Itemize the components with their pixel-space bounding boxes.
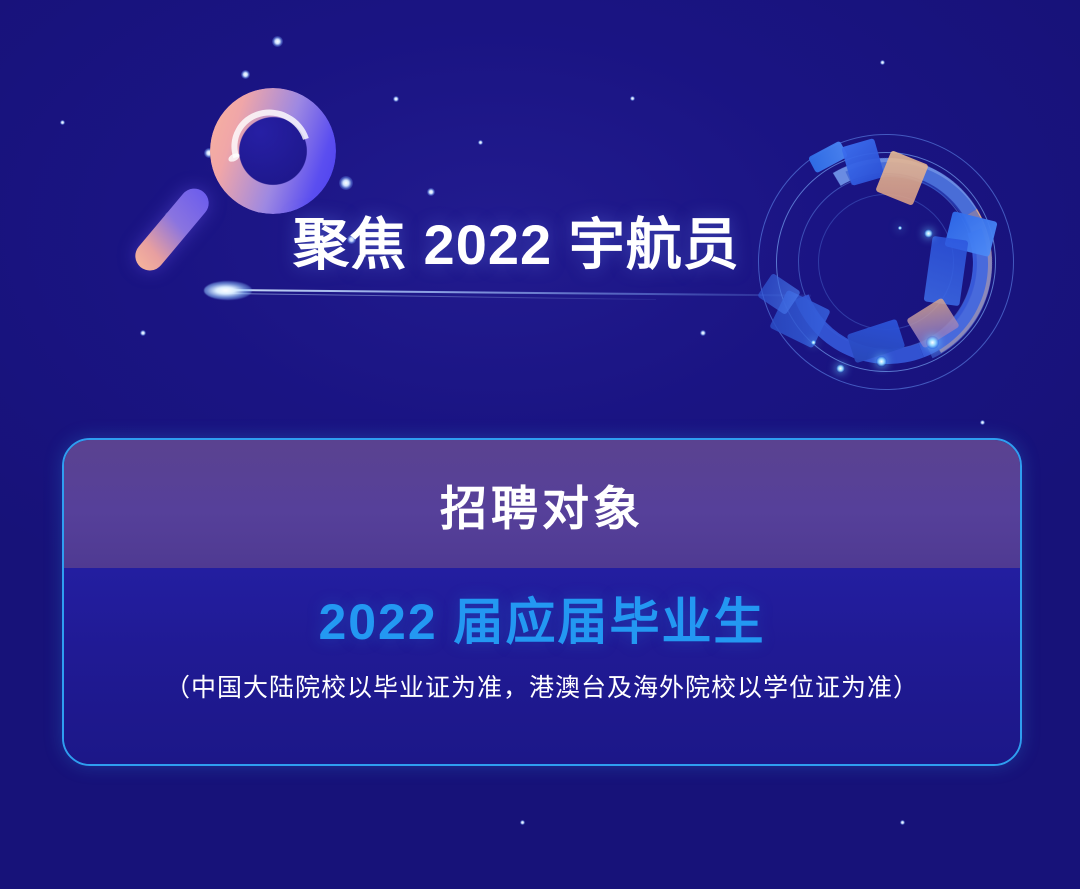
star-dot-icon — [478, 140, 483, 145]
tech-circle-node-icon — [811, 340, 816, 345]
card-header-band: 招聘对象 — [64, 440, 1020, 568]
tech-circle-node-icon — [926, 336, 939, 349]
star-dot-icon — [427, 188, 435, 196]
star-dot-icon — [140, 330, 146, 336]
star-dot-icon — [60, 120, 65, 125]
star-dot-icon — [630, 96, 635, 101]
card-header-title: 招聘对象 — [440, 470, 644, 539]
star-dot-icon — [520, 820, 525, 825]
star-dot-icon — [241, 70, 250, 79]
star-dot-icon — [880, 60, 885, 65]
star-dot-icon — [980, 420, 985, 425]
magnifier-handle — [129, 183, 214, 277]
tech-circle-icon — [752, 128, 1020, 396]
card-body: 2022 届应届毕业生 （中国大陆院校以毕业证为准，港澳台及海外院校以学位证为准… — [64, 568, 1020, 764]
star-dot-icon — [900, 820, 905, 825]
card-main-line: 2022 届应届毕业生 — [318, 582, 765, 654]
page-title: 聚焦 2022 宇航员 — [293, 200, 740, 281]
tech-circle-node-icon — [898, 226, 902, 230]
star-dot-icon — [700, 330, 706, 336]
recruitment-target-card: 招聘对象 2022 届应届毕业生 （中国大陆院校以毕业证为准，港澳台及海外院校以… — [62, 438, 1022, 766]
tech-circle-node-icon — [876, 356, 887, 367]
tech-circle-node-icon — [924, 229, 933, 238]
tech-circle-node-icon — [836, 364, 845, 373]
card-sub-line: （中国大陆院校以毕业证为准，港澳台及海外院校以学位证为准） — [165, 668, 919, 704]
star-dot-icon — [272, 36, 283, 47]
poster-canvas: 聚焦 2022 宇航员 招聘对象 2 — [0, 0, 1080, 889]
